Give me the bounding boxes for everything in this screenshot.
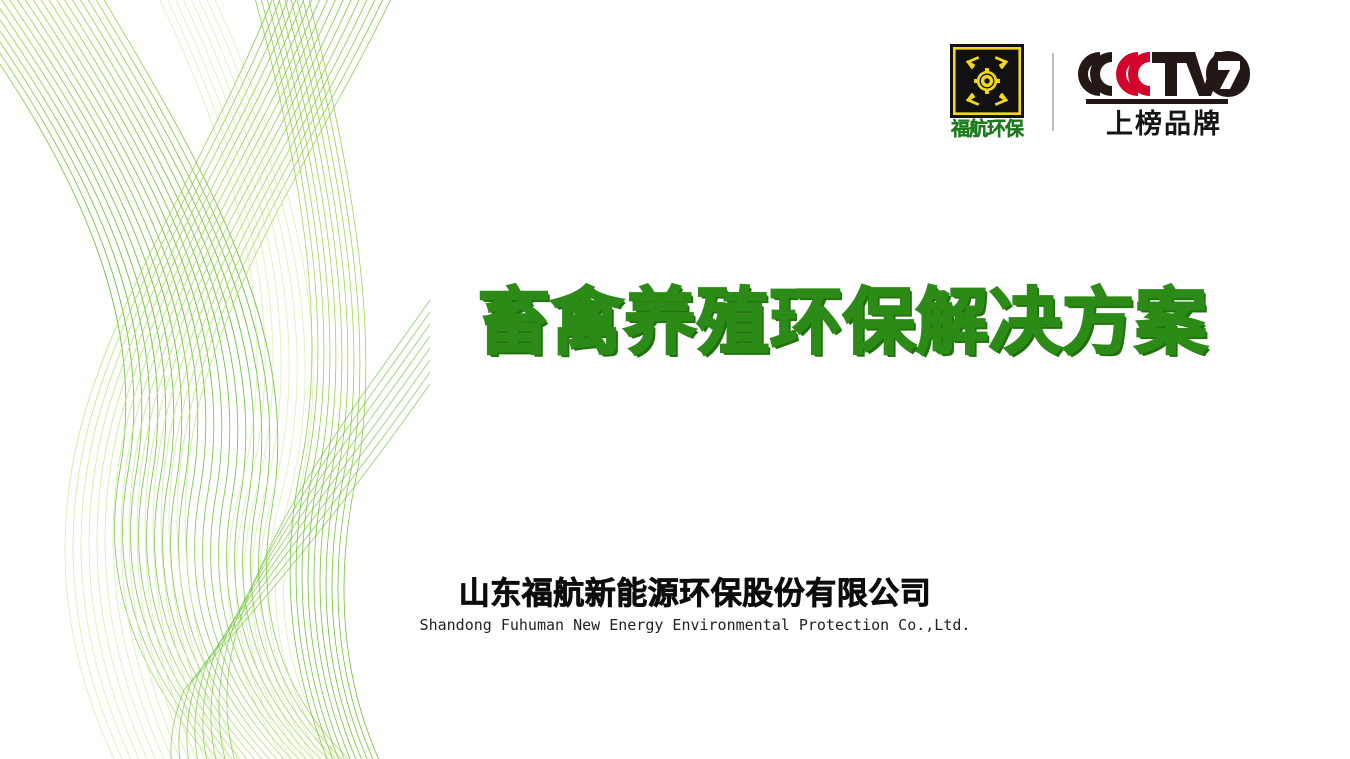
- company-identity: 山东福航新能源环保股份有限公司 Shandong Fuhuman New Ene…: [0, 576, 1350, 634]
- logo-divider: [1052, 53, 1054, 131]
- slide-title: 畜禽养殖环保解决方案: [478, 286, 1208, 362]
- presentation-slide: 福航环保 上榜品牌: [0, 0, 1350, 759]
- green-ribbon-artwork: [0, 0, 430, 759]
- company-name-cn: 山东福航新能源环保股份有限公司: [40, 576, 1350, 612]
- cctv-logo: 上榜品牌: [1078, 46, 1250, 138]
- company-name-en: Shandong Fuhuman New Energy Environmenta…: [40, 616, 1350, 634]
- company-logo: 福航环保: [944, 44, 1030, 140]
- fuhang-emblem-icon: [950, 44, 1024, 118]
- cctv-wordmark-icon: [1078, 46, 1250, 108]
- logo-bar: 福航环保 上榜品牌: [944, 44, 1250, 140]
- cctv-logo-caption: 上榜品牌: [1106, 111, 1222, 138]
- company-logo-caption: 福航环保: [951, 120, 1023, 140]
